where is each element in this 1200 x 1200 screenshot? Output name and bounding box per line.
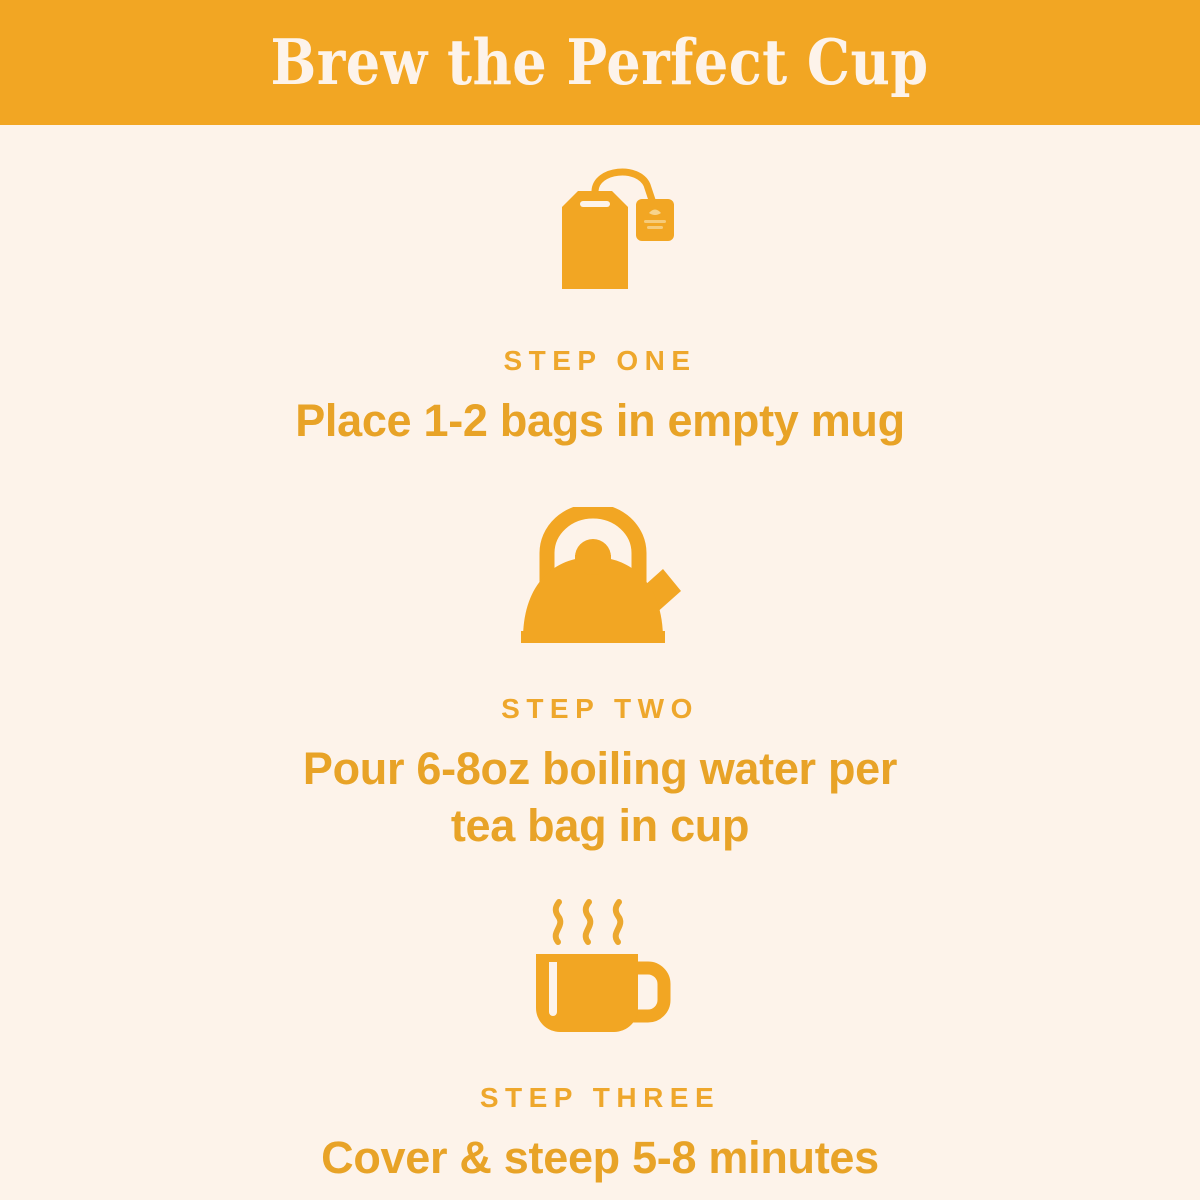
tea-bag-icon bbox=[520, 163, 680, 303]
header-banner: Brew the Perfect Cup bbox=[0, 0, 1200, 125]
kettle-icon bbox=[505, 507, 695, 657]
page-title: Brew the Perfect Cup bbox=[271, 31, 929, 94]
step-text: Cover & steep 5-8 minutes bbox=[321, 1129, 879, 1186]
brewing-instructions-poster: Brew the Perfect Cup bbox=[0, 0, 1200, 1200]
step-item-two: STEP TWO Pour 6-8oz boiling water per te… bbox=[100, 507, 1100, 854]
step-text: Place 1-2 bags in empty mug bbox=[295, 392, 905, 449]
step-text: Pour 6-8oz boiling water per tea bag in … bbox=[303, 740, 897, 854]
steps-list: STEP ONE Place 1-2 bags in empty mug bbox=[0, 125, 1200, 1200]
step-item-one: STEP ONE Place 1-2 bags in empty mug bbox=[100, 163, 1100, 449]
step-label: STEP ONE bbox=[503, 347, 696, 375]
step-label: STEP THREE bbox=[480, 1084, 720, 1112]
step-item-three: STEP THREE Cover & steep 5-8 minutes bbox=[100, 896, 1100, 1186]
step-label: STEP TWO bbox=[501, 695, 699, 723]
steaming-mug-icon bbox=[520, 896, 680, 1046]
